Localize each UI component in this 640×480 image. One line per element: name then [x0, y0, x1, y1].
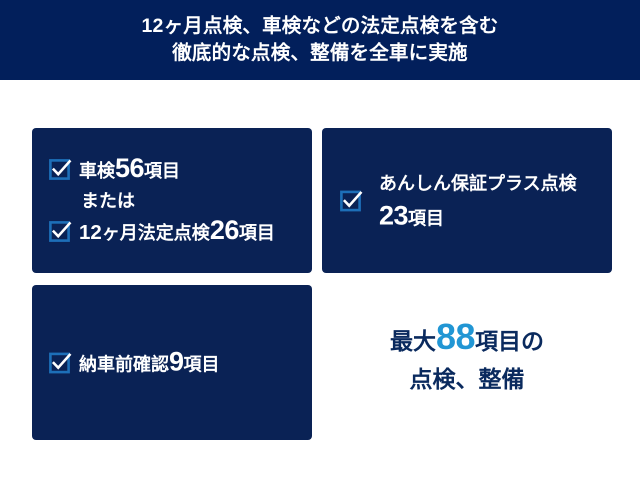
summary-particle: の: [521, 328, 544, 354]
card-shaken-row-1: 車検56項目: [49, 155, 312, 185]
summary-line-2: 点検、整備: [322, 360, 612, 398]
checkbox-checked-icon: [49, 221, 70, 242]
card-anshin-texts: あんしん保証プラス点検 23項目: [379, 167, 577, 234]
checkbox-checked-icon: [49, 352, 70, 373]
card-anshin-text-2: 23項目: [379, 199, 577, 234]
card-nosha-number: 9: [169, 346, 184, 376]
infographic-page: 12ヶ月点検、車検などの法定点検を含む 徹底的な点検、整備を全車に実施 車検56…: [0, 0, 640, 480]
card-nosha-suffix: 項目: [184, 354, 220, 374]
card-shaken-number-1: 56: [115, 153, 144, 183]
card-shaken-text-1: 車検56項目: [79, 155, 180, 184]
card-shaken-number-3: 26: [210, 215, 239, 245]
card-shaken-suffix-1: 項目: [144, 161, 180, 181]
card-shaken-row-3: 12ヶ月法定点検26項目: [49, 217, 312, 247]
card-anshin-text-1: あんしん保証プラス点検: [379, 167, 577, 199]
card-shaken-label-1: 車検: [79, 161, 115, 181]
card-shaken-suffix-3: 項目: [239, 223, 275, 243]
header-line-2: 徹底的な点検、整備を全車に実施: [172, 40, 468, 67]
card-nosha-label: 納車前確認: [79, 354, 169, 374]
checkbox-checked-icon: [49, 159, 70, 180]
inspection-card-anshin: あんしん保証プラス点検 23項目: [322, 128, 612, 273]
inspection-card-nosha: 納車前確認9項目: [32, 285, 312, 440]
card-shaken-text-3: 12ヶ月法定点検26項目: [79, 217, 275, 246]
checkbox-checked-icon: [340, 190, 361, 211]
card-anshin-number: 23: [379, 200, 408, 230]
card-shaken-text-2: または: [81, 188, 135, 214]
card-shaken-content: 車検56項目 または 12ヶ月法定点検26項目: [32, 154, 312, 248]
header-banner: 12ヶ月点検、車検などの法定点検を含む 徹底的な点検、整備を全車に実施: [0, 0, 640, 80]
summary-line-1: 最大88項目の: [322, 318, 612, 360]
card-anshin-suffix: 項目: [408, 208, 444, 228]
card-shaken-row-2: または: [49, 186, 312, 216]
header-line-1: 12ヶ月点検、車検などの法定点検を含む: [142, 13, 499, 40]
inspection-card-shaken: 車検56項目 または 12ヶ月法定点検26項目: [32, 128, 312, 273]
summary-middle: 項目: [475, 328, 521, 354]
summary-prefix: 最大: [390, 328, 436, 354]
summary-total: 最大88項目の 点検、整備: [322, 318, 612, 398]
card-nosha-text: 納車前確認9項目: [79, 348, 220, 377]
card-shaken-prefix-3: 12: [79, 221, 102, 244]
card-shaken-label-3: ヶ月法定点検: [102, 223, 210, 243]
summary-total-number: 88: [436, 316, 475, 357]
card-anshin-content: あんしん保証プラス点検 23項目: [322, 167, 612, 234]
card-nosha-content: 納車前確認9項目: [32, 348, 312, 377]
